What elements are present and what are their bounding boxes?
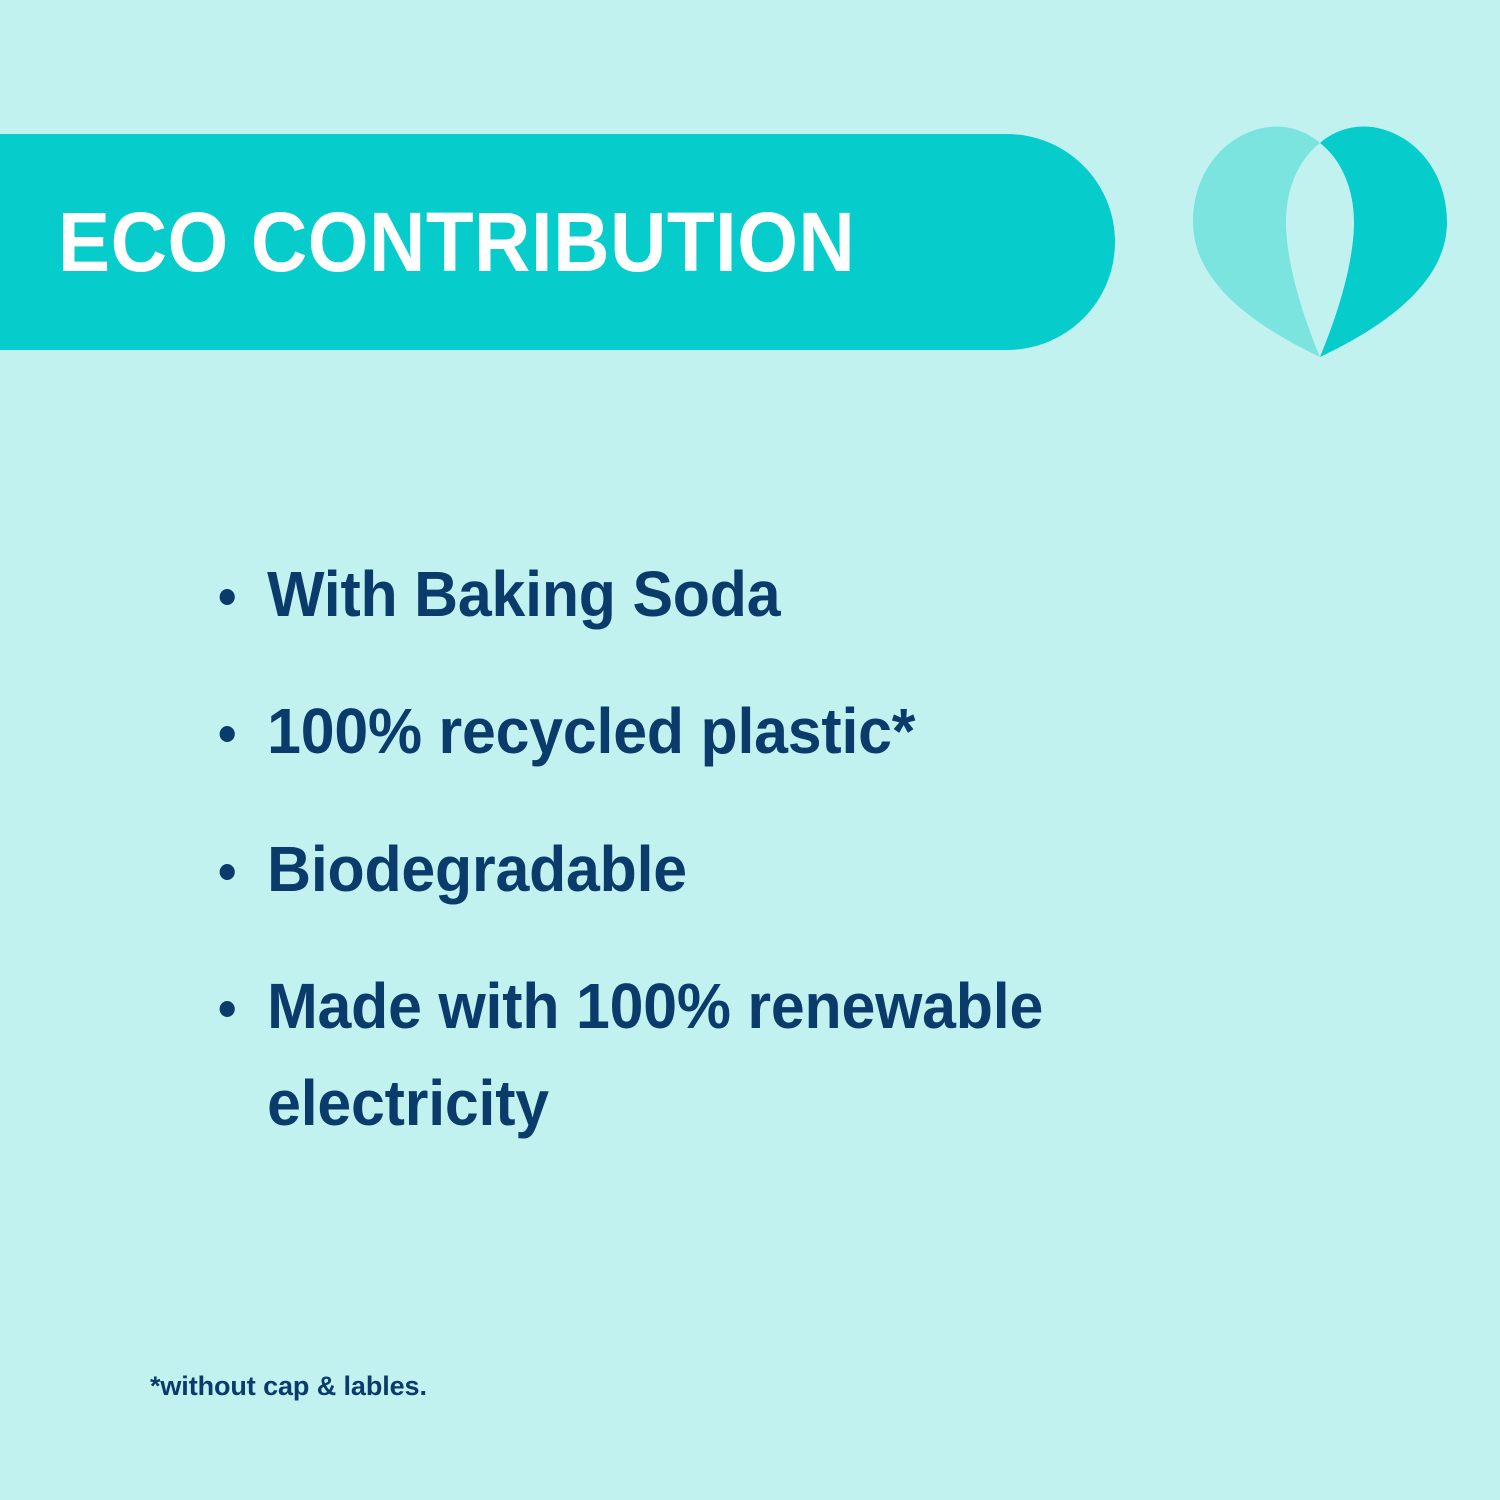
bullet-dot-icon: [220, 726, 235, 742]
bullet-dot-icon: [220, 589, 235, 605]
eco-contribution-poster: ECO CONTRIBUTION With Baking Soda 100% r…: [0, 0, 1500, 1500]
list-item: Biodegradable: [212, 821, 1333, 918]
footnote: *without cap & lables.: [150, 1370, 427, 1402]
bullet-dot-icon: [220, 1001, 235, 1017]
list-item: With Baking Soda: [212, 546, 1333, 643]
list-item-label: Made with 100% renewable electricity: [267, 970, 1043, 1139]
bullet-dot-icon: [220, 864, 235, 880]
list-item-label: Biodegradable: [267, 833, 687, 905]
heart-left-lobe: [1193, 127, 1320, 357]
list-item-label: With Baking Soda: [267, 558, 780, 630]
header-banner: ECO CONTRIBUTION: [0, 134, 1115, 350]
list-item-label: 100% recycled plastic*: [267, 695, 915, 767]
list-item: Made with 100% renewable electricity: [212, 958, 1333, 1153]
page-title: ECO CONTRIBUTION: [58, 200, 855, 284]
feature-list: With Baking Soda 100% recycled plastic* …: [212, 546, 1392, 1152]
heart-right-lobe: [1320, 127, 1447, 357]
list-item: 100% recycled plastic*: [212, 683, 1333, 780]
heart-icon: [1190, 126, 1450, 358]
